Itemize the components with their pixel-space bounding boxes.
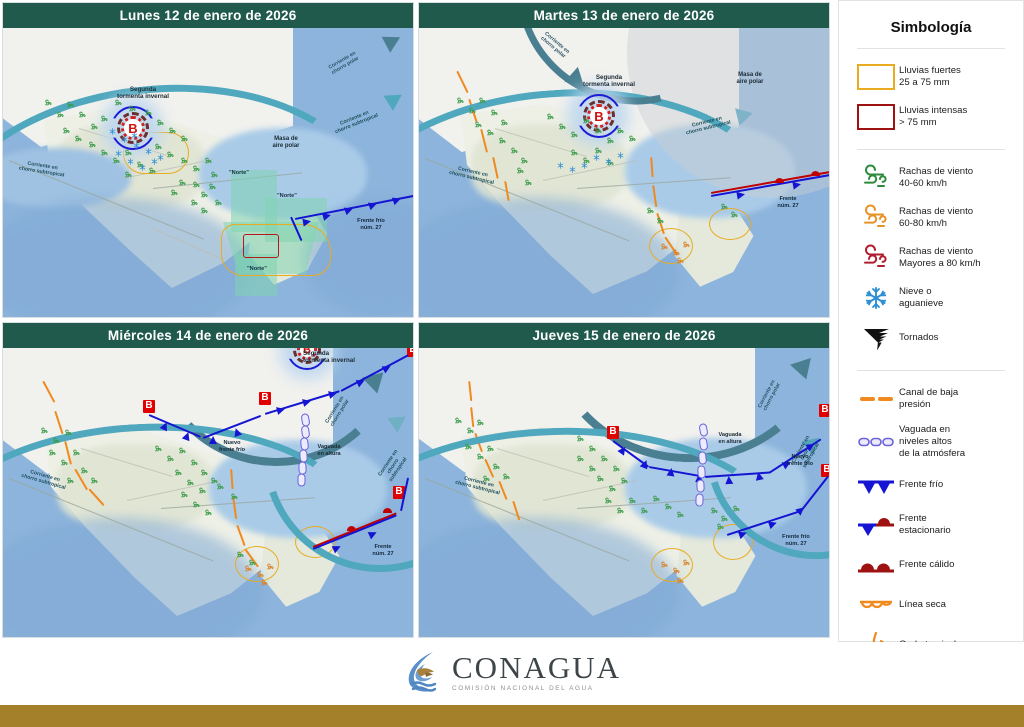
wind-gust-symbol [651,492,661,502]
storm-label: Segunda tormenta invernal [303,350,381,365]
wind-gust-symbol [587,442,597,452]
dry-line-icon [853,590,899,620]
trough-link-5 [696,479,704,492]
wind-gust-symbol [153,442,163,452]
vaguada-label: Vaguada en altura [703,432,757,445]
stationary-front-icon [856,511,896,539]
wind-gust-symbol [73,132,83,142]
wind-gust-symbol [587,462,597,472]
legend-item-dry-line[interactable]: Línea seca [839,585,1023,625]
wind-gust-symbol [259,576,269,586]
legend-item-label: Frente frío [899,479,943,491]
wind-gust-symbol [475,450,485,460]
wind-gust-symbol [523,176,533,186]
legend-item-red-rectangle[interactable]: Lluvias intensas > 75 mm [839,97,1023,137]
wind-gust-symbol [59,456,69,466]
legend-item-label: Frente estacionario [899,513,951,537]
warm-front-bump-1 [775,178,784,183]
legend-item-wind-gust-orange[interactable]: Rachas de viento 60-80 km/h [839,198,1023,238]
legend-item-label: Rachas de viento 60-80 km/h [899,206,973,230]
wind-gust-symbol [465,424,475,434]
wind-gust-orange-icon [856,204,896,232]
wind-gust-symbol [671,564,681,574]
snow-symbol [119,132,129,142]
panel-miercoles[interactable]: Miércoles 14 de enero de 2026 [2,322,414,638]
wind-gust-symbol [619,474,629,484]
panel-miercoles-map[interactable]: Corriente en chorro polar Corriente en c… [3,348,413,637]
wind-gust-symbol [719,200,729,210]
wind-gust-symbol [79,464,89,474]
wind-gust-symbol [473,118,483,128]
snow-symbol [149,154,159,164]
legend-divider-2 [857,149,1005,150]
wind-gust-symbol [215,480,225,490]
wind-gust-symbol [99,112,109,122]
wind-gust-symbol [155,116,165,126]
wind-gust-symbol [463,440,473,450]
wind-gust-symbol [497,134,507,144]
legend-item-label: Nieve o aguanieve [899,286,943,310]
wind-gust-symbol [89,474,99,484]
wind-gust-symbol [655,214,665,224]
warm-front-bump-2 [811,171,820,176]
panel-martes-map[interactable]: Corriente en chorro polar Corriente en c… [419,28,829,317]
trough-link-4 [697,465,706,479]
wind-gust-symbol [615,504,625,514]
nuevo-frente-frio-label: Nuevo frente frío [771,454,829,467]
trough-link-6 [695,493,703,506]
dry-line-icon [856,591,896,619]
wind-gust-symbol [615,124,625,134]
wind-gust-symbol [123,168,133,178]
upper-level-trough-icon [856,428,896,456]
wind-gust-symbol [189,196,199,206]
wind-gust-symbol [199,466,209,476]
yellow-rectangle-icon [853,62,899,92]
wind-gust-symbol [575,452,585,462]
forecast-page: Lunes 12 de enero de 2026 [0,0,1024,727]
masa-aire-polar-label: Masa de aire polar [715,72,785,86]
norte-label-2: "Norte" [277,193,297,199]
storm-label: Segunda tormenta invernal [559,74,659,89]
panel-martes-title: Martes 13 de enero de 2026 [419,3,829,28]
wind-gust-symbol [39,424,49,434]
panel-jueves-map[interactable]: Corriente en chorro polar Corriente en c… [419,348,829,637]
wind-gust-symbol [203,506,213,516]
wind-gust-symbol [501,470,511,480]
continental-shelf-gulf [209,440,387,538]
snow-symbol [603,154,613,164]
snow-symbol [615,148,625,158]
legend-item-label: Rachas de viento Mayores a 80 km/h [899,246,981,270]
wind-gust-symbol [47,446,57,456]
red-rectangle-icon [853,102,899,132]
new-front-barb-3 [666,467,675,476]
wind-gust-symbol [89,120,99,130]
wind-gust-symbol [515,164,525,174]
rain-intense-polygon [243,234,279,258]
trough-link-3 [698,451,707,465]
wind-gust-symbol [659,240,669,250]
snow-symbol [143,144,153,154]
snow-symbol [125,154,135,164]
wind-gust-symbol [481,472,491,482]
nuevo-frente-frio-label: Nuevo frente frío [201,440,263,453]
legend-item-label: Rachas de viento 40-60 km/h [899,166,973,190]
frente-frio-27-label: Frente frío núm. 27 [763,534,829,547]
legend-item-upper-level-trough[interactable]: Vaguada en niveles altos de la atmósfera [839,419,1023,465]
low-b-marker-1: B [143,400,155,413]
stationary-front-icon [853,510,899,540]
warm-front-bump-2 [347,526,356,531]
masa-aire-polar-label: Masa de aire polar [251,136,321,150]
wind-gust-symbol [143,106,153,116]
wind-gust-symbol [627,494,637,504]
cold-front-icon [856,471,896,499]
conagua-wordmark: CONAGUA [452,652,621,683]
wind-gust-symbol [243,562,253,572]
wind-gust-symbol [499,116,509,126]
wind-gust-symbol [489,106,499,116]
wind-gust-symbol [61,124,71,134]
wind-gust-symbol [681,238,691,248]
conagua-tagline: COMISIÓN NACIONAL DEL AGUA [452,685,621,692]
wind-gust-symbol [87,138,97,148]
wind-gust-symbol [681,556,691,566]
eagle-water-icon [403,650,443,694]
legend-item-warm-front[interactable]: Frente cálido [839,545,1023,585]
low-pressure-channel-icon [853,384,899,414]
new-front-barb-6 [754,471,763,480]
wind-gust-symbol [485,126,495,136]
wind-gust-symbol [199,204,209,214]
legend-item-label: Lluvias fuertes 25 a 75 mm [899,65,961,89]
legend-item-low-pressure-channel[interactable]: Canal de baja presión [839,379,1023,419]
wind-gust-symbol [173,466,183,476]
footer: CONAGUA COMISIÓN NACIONAL DEL AGUA [0,642,1024,705]
norte-label-1: "Norte" [229,170,249,176]
wind-gust-symbol [599,452,609,462]
panel-lunes-map[interactable]: Corriente en chorro polar Corriente en c… [3,28,413,317]
wind-gust-symbol [127,102,137,112]
wind-gust-symbol [191,178,201,188]
wind-gust-symbol [43,96,53,106]
panel-lunes[interactable]: Lunes 12 de enero de 2026 [2,2,414,318]
panel-jueves-title: Jueves 15 de enero de 2026 [419,323,829,348]
snowflake-icon [856,284,896,312]
wind-gust-symbol [203,154,213,164]
map-panel-grid: Lunes 12 de enero de 2026 [0,0,836,642]
legend-item-label: Vaguada en niveles altos de la atmósfera [899,424,965,460]
wind-gust-red-icon [853,243,899,273]
wind-gust-symbol [113,96,123,106]
wind-gust-symbol [477,94,487,104]
wind-gust-symbol [153,140,163,150]
warm-front-bump-1 [383,508,392,513]
legend-item-label: Frente cálido [899,559,954,571]
snow-symbol [137,160,147,170]
wind-gust-symbol [77,108,87,118]
wind-gust-symbol [169,186,179,196]
wind-gust-red-icon [856,244,896,272]
legend-divider-top [857,48,1005,49]
wind-gust-symbol [197,484,207,494]
wind-gust-symbol [581,114,591,124]
legend-item-stationary-front[interactable]: Frente estacionario [839,505,1023,545]
wind-gust-symbol [51,434,61,444]
wind-gust-symbol [455,94,465,104]
cold-front-barb-1 [302,217,311,226]
wind-gust-symbol [265,560,275,570]
tornado-icon [853,323,899,353]
new-front-barb-5 [725,476,734,485]
legend-item-snowflake[interactable]: Nieve o aguanieve [839,278,1023,318]
tornado-icon [856,324,896,352]
snowflake-icon [853,283,899,313]
wind-gust-symbol [167,124,177,134]
upper-level-trough-icon [853,427,899,457]
wind-gust-symbol [569,146,579,156]
legend-item-yellow-rectangle[interactable]: Lluvias fuertes 25 a 75 mm [839,57,1023,97]
wind-gust-green-icon [856,164,896,192]
panel-jueves[interactable]: Jueves 15 de enero de 2026 [418,322,830,638]
vaguada-label: Vaguada en altura [303,444,355,457]
wind-gust-symbol [545,110,555,120]
wind-gust-symbol [639,504,649,514]
wind-gust-symbol [731,502,741,512]
wind-gust-symbol [63,426,73,436]
snow-symbol [567,162,577,172]
wind-gust-symbol [715,520,725,530]
legend-divider-7 [857,370,1005,371]
panel-martes[interactable]: Martes 13 de enero de 2026 [418,2,830,318]
legend-item-label: Canal de baja presión [899,387,958,411]
warm-front-icon [856,551,896,579]
wind-gust-symbol [475,416,485,426]
legend-item-wind-gust-red[interactable]: Rachas de viento Mayores a 80 km/h [839,238,1023,278]
wind-gust-symbol [71,446,81,456]
wind-gust-symbol [179,154,189,164]
snow-symbol [555,158,565,168]
wind-gust-symbol [675,574,685,584]
trough-link-6 [298,474,306,487]
legend-rows: Lluvias fuertes 25 a 75 mmLluvias intens… [839,57,1023,665]
cold-front-barb-2 [792,180,801,189]
wind-gust-symbol [485,442,495,452]
low-b-marker-2: B [259,392,271,405]
cold-front-barb-1 [736,190,745,199]
wind-gust-symbol [607,482,617,492]
wind-gust-symbol [605,134,615,144]
wind-gust-symbol [519,154,529,164]
wind-gust-symbol [179,488,189,498]
wind-gust-symbol [709,504,719,514]
norte-label-3: "Norte" [247,266,267,272]
wind-gust-symbol [65,98,75,108]
wind-gust-symbol [65,474,75,484]
bottom-gold-bar [0,705,1024,727]
low-pressure-channel-icon [856,385,896,413]
wind-gust-symbol [603,494,613,504]
snow-symbol [579,158,589,168]
wind-gust-symbol [209,168,219,178]
wind-gust-symbol [177,444,187,454]
wind-gust-symbol [729,208,739,218]
frente-label: Frente núm. 27 [355,544,411,557]
wind-gust-symbol [235,548,245,558]
conagua-logo: CONAGUA COMISIÓN NACIONAL DEL AGUA [403,650,621,694]
wind-gust-symbol [177,176,187,186]
wind-gust-symbol [229,490,239,500]
legend-panel: Simbología Lluvias fuertes 25 a 75 mmLlu… [838,0,1024,642]
panel-lunes-title: Lunes 12 de enero de 2026 [3,3,413,28]
snow-symbol [107,124,117,134]
legend-item-cold-front[interactable]: Frente frío [839,465,1023,505]
wind-gust-symbol [165,452,175,462]
legend-item-wind-gust-green[interactable]: Rachas de viento 40-60 km/h [839,158,1023,198]
conagua-logo-text: CONAGUA COMISIÓN NACIONAL DEL AGUA [452,652,621,692]
cold-front-icon [853,470,899,500]
wind-gust-symbol [165,148,175,158]
wind-gust-symbol [179,132,189,142]
low-b-marker-2: B [819,404,829,417]
wind-gust-symbol [467,104,477,114]
wind-gust-symbol [569,128,579,138]
snow-symbol [591,150,601,160]
wind-gust-green-icon [853,163,899,193]
low-pressure-b-symbol: B [590,107,608,125]
wind-gust-symbol [663,500,673,510]
wind-gust-symbol [213,196,223,206]
wind-gust-symbol [185,476,195,486]
wind-gust-symbol [611,462,621,472]
wind-gust-symbol [509,144,519,154]
wind-gust-symbol [99,146,109,156]
wind-gust-symbol [191,498,201,508]
wind-gust-symbol [575,432,585,442]
wind-gust-symbol [595,472,605,482]
wind-gust-symbol [491,460,501,470]
wind-gust-symbol [207,180,217,190]
wind-gust-symbol [55,108,65,118]
wind-gust-symbol [191,162,201,172]
warm-front-icon [853,550,899,580]
snow-symbol [113,146,123,156]
legend-item-label: Lluvias intensas > 75 mm [899,105,967,129]
storm-label: Segunda tormenta invernal [95,86,191,101]
frente-frio-label: Frente frío núm. 27 [339,218,403,231]
wind-gust-symbol [675,254,685,264]
wind-gust-symbol [557,120,567,130]
frente-label: Frente núm. 27 [759,196,817,209]
legend-item-label: Tornados [899,332,938,344]
legend-item-tornado[interactable]: Tornados [839,318,1023,358]
wind-gust-symbol [593,124,603,134]
snow-symbol [129,128,139,138]
legend-item-label: Línea seca [899,599,946,611]
panel-miercoles-title: Miércoles 14 de enero de 2026 [3,323,413,348]
wind-gust-symbol [189,456,199,466]
wind-gust-symbol [659,558,669,568]
wind-gust-symbol [627,132,637,142]
low-b-marker-1: B [607,426,619,439]
wind-gust-symbol [645,204,655,214]
wind-gust-symbol [675,508,685,518]
wind-gust-orange-icon [853,203,899,233]
legend-title: Simbología [839,19,1023,36]
wind-gust-symbol [453,414,463,424]
